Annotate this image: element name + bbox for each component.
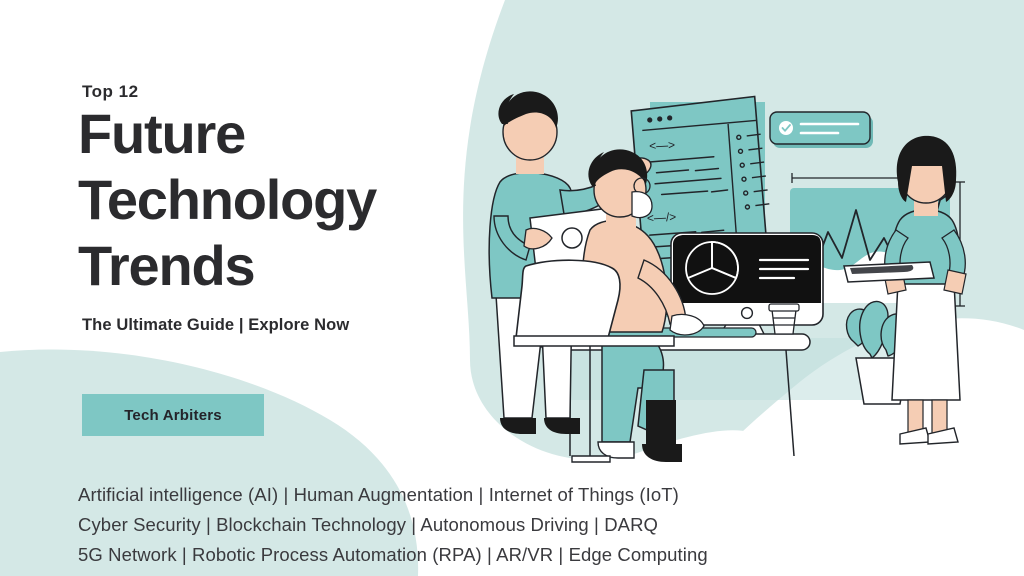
subheadline: The Ultimate Guide | Explore Now (82, 316, 349, 335)
coffee-cup (769, 304, 799, 334)
title-line-3: Trends (78, 233, 498, 299)
eyebrow-label: Top 12 (82, 82, 139, 102)
laptop (844, 262, 934, 282)
check-circle-icon (779, 121, 793, 135)
hero-illustration: <—> <—/> (460, 70, 1024, 490)
notification-card (770, 112, 873, 148)
title-line-1: Future (78, 101, 498, 167)
monitor-button-icon (742, 308, 753, 319)
brand-badge-label: Tech Arbiters (124, 407, 222, 424)
code-tag-open: <—> (649, 138, 676, 153)
page-title: Future Technology Trends (78, 101, 498, 299)
keyword-line-2: Cyber Security | Blockchain Technology |… (78, 510, 708, 540)
poster-canvas: Top 12 Future Technology Trends The Ulti… (0, 0, 1024, 576)
brand-badge[interactable]: Tech Arbiters (82, 394, 264, 436)
keyword-line-3: 5G Network | Robotic Process Automation … (78, 540, 708, 570)
keyword-list: Artificial intelligence (AI) | Human Aug… (78, 480, 708, 570)
keyword-line-1: Artificial intelligence (AI) | Human Aug… (78, 480, 708, 510)
title-line-2: Technology (78, 167, 498, 233)
